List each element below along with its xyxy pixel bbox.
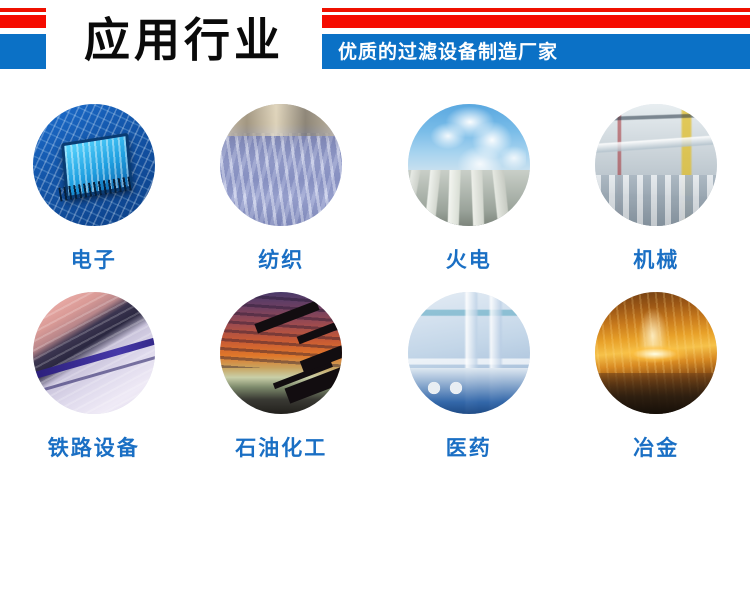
- page-title: 应用行业: [84, 17, 284, 63]
- industry-label: 铁路设备: [48, 432, 140, 462]
- industry-item-electronics[interactable]: 电子: [0, 104, 188, 274]
- industry-thumbnail[interactable]: [595, 104, 717, 226]
- laboratory-image: [408, 292, 530, 414]
- page-header: 应用行业 优质的过滤设备制造厂家: [0, 0, 750, 88]
- industry-thumbnail[interactable]: [220, 104, 342, 226]
- industry-label: 机械: [633, 244, 679, 274]
- page-title-box: 应用行业: [46, 0, 322, 80]
- industry-item-railway-equipment[interactable]: 铁路设备: [0, 292, 188, 462]
- industry-item-petrochemical[interactable]: 石油化工: [188, 292, 376, 462]
- industry-label: 纺织: [258, 244, 304, 274]
- industry-thumbnail[interactable]: [408, 292, 530, 414]
- industry-item-pharmaceutical[interactable]: 医药: [375, 292, 563, 462]
- industry-item-textile[interactable]: 纺织: [188, 104, 376, 274]
- textile-fibers-image: [220, 104, 342, 226]
- oil-pumpjack-image: [220, 292, 342, 414]
- industry-item-thermal-power[interactable]: 火电: [375, 104, 563, 274]
- high-speed-train-image: [33, 292, 155, 414]
- industry-thumbnail[interactable]: [33, 292, 155, 414]
- production-line-image: [595, 104, 717, 226]
- industry-grid: 电子 纺织 火电 机械 铁路设备 石油化工 医药: [0, 88, 750, 462]
- industry-thumbnail[interactable]: [33, 104, 155, 226]
- industry-item-metallurgy[interactable]: 冶金: [563, 292, 750, 462]
- industry-thumbnail[interactable]: [408, 104, 530, 226]
- industry-label: 电子: [71, 244, 117, 274]
- industry-label: 医药: [446, 432, 492, 462]
- cooling-towers-image: [408, 104, 530, 226]
- molten-steel-image: [595, 292, 717, 414]
- industry-label: 火电: [446, 244, 492, 274]
- circuit-board-image: [33, 104, 155, 226]
- industry-thumbnail[interactable]: [595, 292, 717, 414]
- industry-label: 冶金: [633, 432, 679, 462]
- industry-item-machinery[interactable]: 机械: [563, 104, 750, 274]
- industry-label: 石油化工: [235, 432, 327, 462]
- page-subtitle: 优质的过滤设备制造厂家: [338, 38, 558, 66]
- industry-thumbnail[interactable]: [220, 292, 342, 414]
